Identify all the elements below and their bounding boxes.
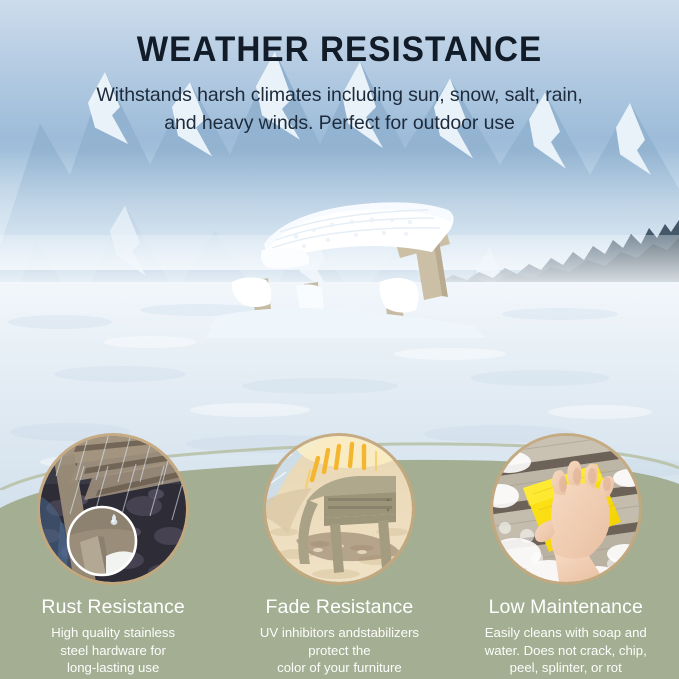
feature-image-fade-resistance xyxy=(266,436,412,582)
feature-desc-line: Easily cleans with soap and xyxy=(485,624,647,642)
feature-desc-line: UV inhibitors andstabilizers xyxy=(260,624,419,642)
feature-desc-line: long-lasting use xyxy=(51,659,175,677)
page-title: WEATHER RESISTANCE xyxy=(17,30,662,70)
page-subtitle: Withstands harsh climates including sun,… xyxy=(0,81,679,137)
rain-on-deck-with-water-bead-icon xyxy=(40,436,186,582)
feature-title-fade-resistance: Fade Resistance xyxy=(266,596,414,619)
feature-desc-line: peel, splinter, or rot xyxy=(485,659,647,677)
feature-desc-line: High quality stainless xyxy=(51,624,175,642)
feature-desc-line: color of your furniture xyxy=(260,659,419,677)
feature-desc-line: steel hardware for xyxy=(51,642,175,660)
feature-list: Rust Resistance High quality stainless s… xyxy=(0,436,679,679)
feature-rust-resistance: Rust Resistance High quality stainless s… xyxy=(0,436,226,679)
subtitle-line-1: Withstands harsh climates including sun,… xyxy=(96,84,540,106)
weather-resistance-infographic: WEATHER RESISTANCE Withstands harsh clim… xyxy=(0,0,679,679)
feature-title-rust-resistance: Rust Resistance xyxy=(41,596,184,619)
feature-desc-line: water. Does not crack, chip, xyxy=(485,642,647,660)
feature-desc-rust-resistance: High quality stainless steel hardware fo… xyxy=(39,624,187,677)
feature-image-rust-resistance xyxy=(40,436,186,582)
snow-covered-chair xyxy=(196,178,496,338)
feature-desc-fade-resistance: UV inhibitors andstabilizers protect the… xyxy=(248,624,431,677)
sunny-beach-bench-icon xyxy=(266,436,412,582)
feature-low-maintenance: Low Maintenance Easily cleans with soap … xyxy=(453,436,679,679)
hand-cleaning-with-cloth-icon xyxy=(493,436,639,582)
feature-fade-resistance: Fade Resistance UV inhibitors andstabili… xyxy=(226,436,452,679)
feature-title-low-maintenance: Low Maintenance xyxy=(489,596,643,619)
feature-desc-low-maintenance: Easily cleans with soap and water. Does … xyxy=(473,624,659,677)
feature-image-low-maintenance xyxy=(493,436,639,582)
feature-desc-line: protect the xyxy=(260,642,419,660)
